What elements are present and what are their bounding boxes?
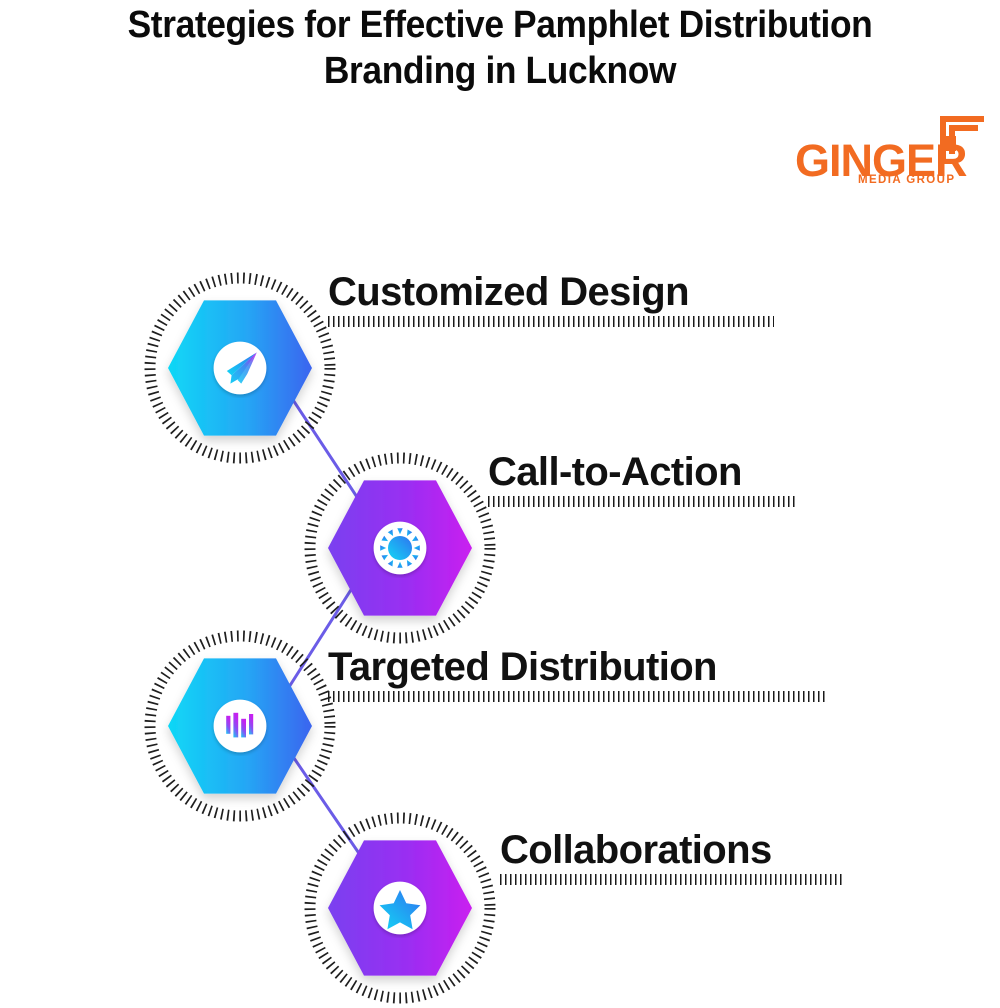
bar-chart-icon <box>210 696 270 756</box>
step-node-1[interactable] <box>140 268 340 468</box>
step-label-group-4: Collaborations <box>500 828 845 885</box>
step-node-2[interactable] <box>300 448 500 648</box>
step-label-group-1: Customized Design <box>328 270 774 327</box>
sun-burst-icon <box>370 518 430 578</box>
step-label-group-3: Targeted Distribution <box>328 645 826 702</box>
step-label-rule-3 <box>328 691 826 702</box>
step-label-4: Collaborations <box>500 828 845 872</box>
step-label-2: Call-to-Action <box>488 450 798 494</box>
step-label-group-2: Call-to-Action <box>488 450 798 507</box>
step-label-rule-4 <box>500 874 845 885</box>
star-icon <box>370 878 430 938</box>
step-label-rule-1 <box>328 316 774 327</box>
step-label-1: Customized Design <box>328 270 774 314</box>
step-node-4[interactable] <box>300 808 500 1008</box>
step-label-3: Targeted Distribution <box>328 645 826 689</box>
step-label-rule-2 <box>488 496 798 507</box>
paper-plane-icon <box>210 338 270 398</box>
process-diagram: Customized Design <box>0 0 1000 1000</box>
step-node-3[interactable] <box>140 626 340 826</box>
